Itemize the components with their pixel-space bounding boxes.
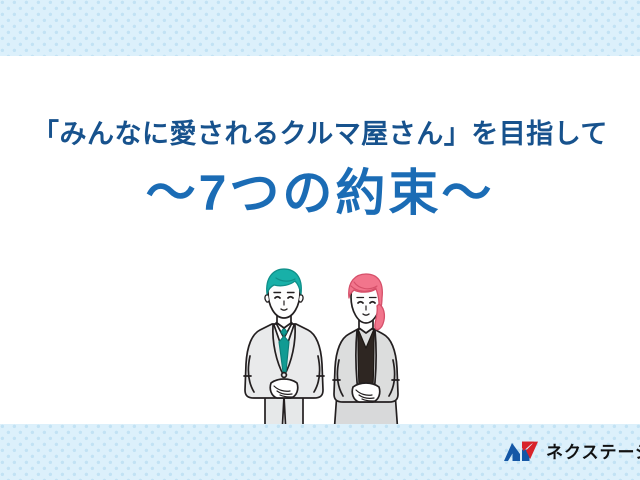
brand-name-label: ネクステージ	[546, 444, 640, 461]
nextage-n-mark	[503, 441, 539, 463]
top-dotted-band	[0, 0, 640, 56]
page-title: 「みんなに愛されるクルマ屋さん」を目指して	[0, 118, 640, 150]
promo-banner: 「みんなに愛されるクルマ屋さん」を目指して 〜7つの約束〜	[0, 0, 640, 480]
male-staff-figure	[244, 269, 324, 434]
female-staff-figure	[333, 274, 399, 434]
staff-illustration	[238, 268, 416, 436]
brand-logo: ネクステージ	[503, 441, 640, 463]
headline-block: 「みんなに愛されるクルマ屋さん」を目指して 〜7つの約束〜	[0, 118, 640, 221]
page-subtitle: 〜7つの約束〜	[0, 166, 640, 221]
